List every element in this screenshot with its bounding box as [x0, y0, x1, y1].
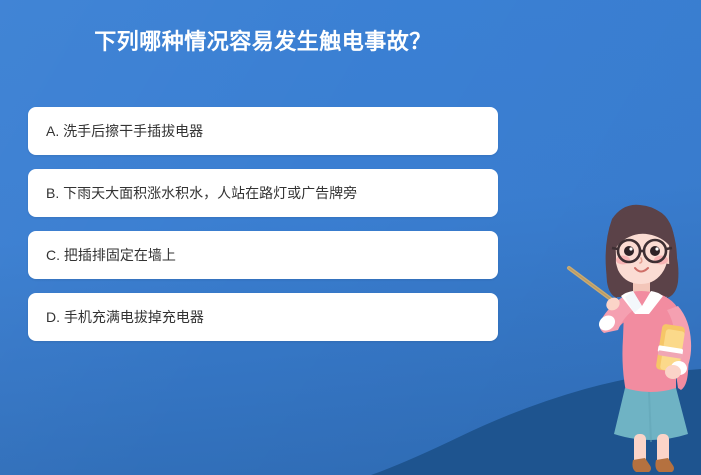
shoe-right — [655, 458, 674, 472]
quiz-screen: 下列哪种情况容易发生触电事故？ A. 洗手后擦干手插拔电器 B. 下雨天大面积涨… — [0, 0, 701, 475]
option-card-b[interactable]: B. 下雨天大面积涨水积水，人站在路灯或广告牌旁 — [28, 169, 498, 217]
eye-left — [624, 246, 634, 256]
pointer-stick-icon — [569, 268, 612, 300]
shoe-left — [632, 458, 651, 472]
option-label-a: A. 洗手后擦干手插拔电器 — [28, 121, 217, 141]
right-hand — [665, 365, 681, 379]
option-label-b: B. 下雨天大面积涨水积水，人站在路灯或广告牌旁 — [28, 183, 371, 203]
option-card-a[interactable]: A. 洗手后擦干手插拔电器 — [28, 107, 498, 155]
option-label-c: C. 把插排固定在墙上 — [28, 245, 190, 265]
option-card-c[interactable]: C. 把插排固定在墙上 — [28, 231, 498, 279]
option-label-d: D. 手机充满电拔掉充电器 — [28, 307, 218, 327]
page-title: 下列哪种情况容易发生触电事故？ — [28, 27, 498, 57]
option-card-d[interactable]: D. 手机充满电拔掉充电器 — [28, 293, 498, 341]
eye-right — [650, 246, 660, 256]
teacher-illustration — [545, 196, 701, 475]
options-list: A. 洗手后擦干手插拔电器 B. 下雨天大面积涨水积水，人站在路灯或广告牌旁 C… — [28, 107, 498, 341]
